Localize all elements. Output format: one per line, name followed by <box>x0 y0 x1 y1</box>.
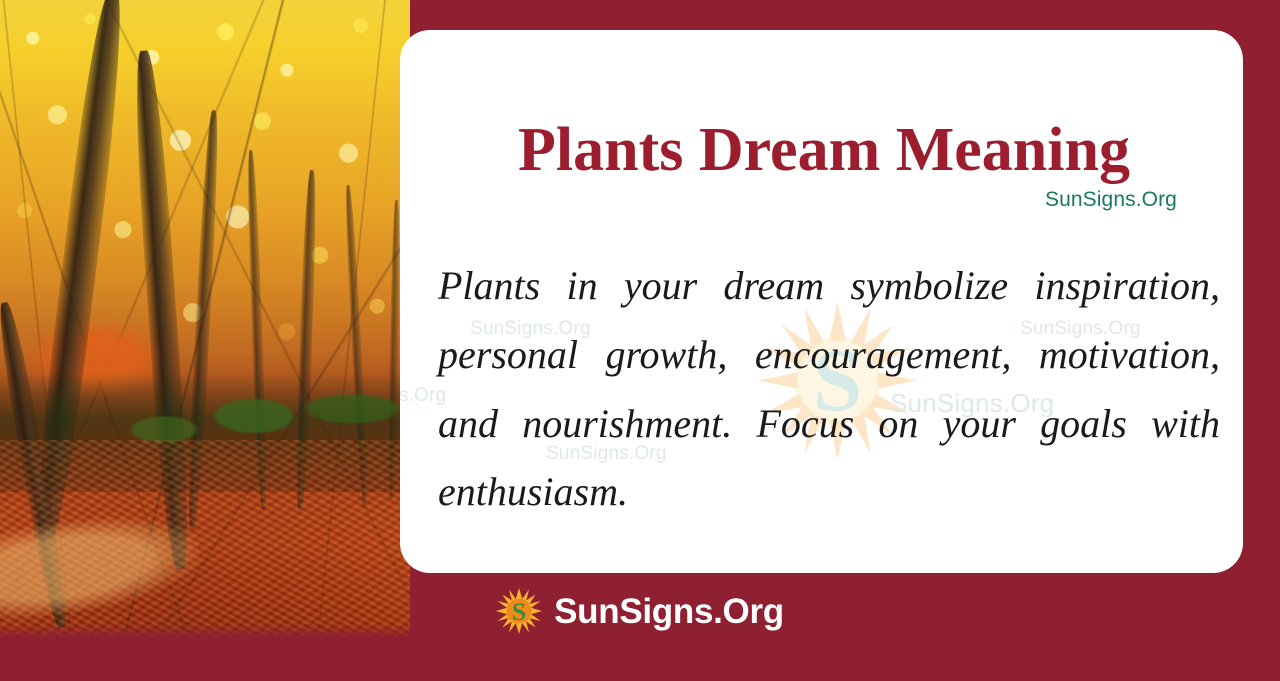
infographic-canvas: S SunSigns.Org SunSigns.Org Signs.Org Su… <box>0 0 1280 681</box>
footer-brand-text: SunSigns.Org <box>554 594 784 629</box>
sunsigns-logo-icon: S <box>496 588 542 634</box>
footer-brand[interactable]: S SunSigns.Org <box>0 588 1280 634</box>
autumn-forest-photo <box>0 0 410 638</box>
content-card: S SunSigns.Org SunSigns.Org Signs.Org Su… <box>400 30 1243 573</box>
body-paragraph: Plants in your dream symbolize inspirati… <box>438 252 1220 527</box>
page-title: Plants Dream Meaning <box>444 118 1204 183</box>
svg-text:S: S <box>512 597 526 626</box>
title-brand-label: SunSigns.Org <box>1045 188 1177 212</box>
